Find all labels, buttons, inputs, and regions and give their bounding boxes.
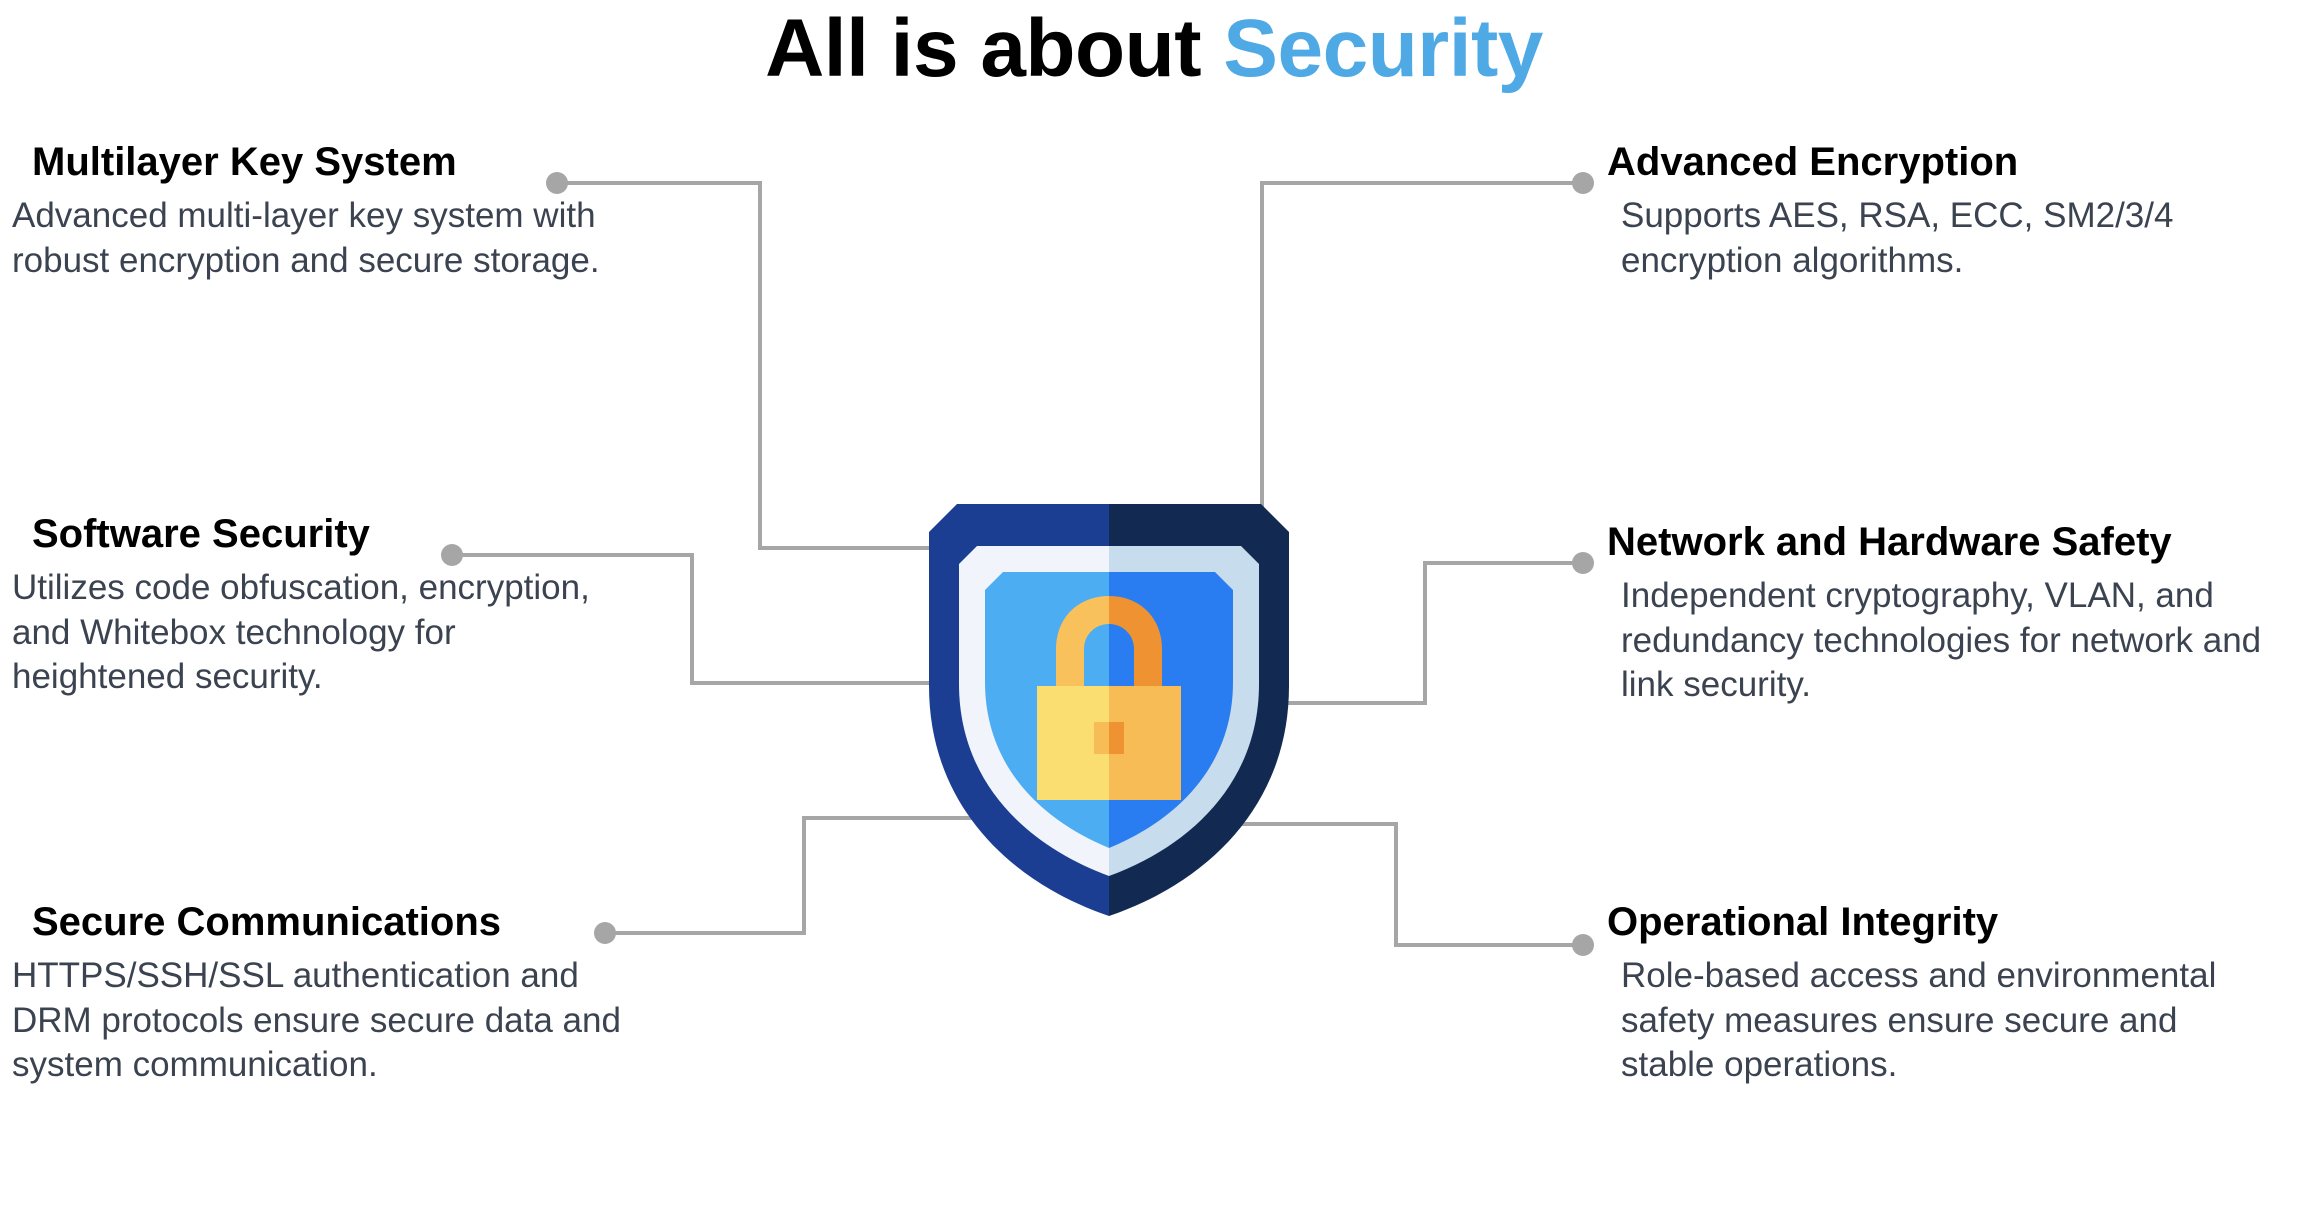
feature-heading: Software Security [32,512,630,557]
connector-dot-advanced-encryption [1572,172,1594,194]
feature-heading: Operational Integrity [1607,900,2267,945]
feature-software-security: Software Security Utilizes code obfuscat… [10,512,630,700]
page-title-accent: Security [1223,3,1543,94]
feature-body: HTTPS/SSH/SSL authentication and DRM pro… [12,954,660,1088]
connector-advanced-encryption [1262,183,1583,570]
connector-dot-operational-integrity [1572,934,1594,956]
padlock-keyhole-icon [1094,722,1124,754]
feature-body: Independent cryptography, VLAN, and redu… [1621,574,2307,708]
feature-body: Utilizes code obfuscation, encryption, a… [12,566,630,700]
feature-secure-communications: Secure Communications HTTPS/SSH/SSL auth… [10,900,660,1088]
feature-heading: Network and Hardware Safety [1607,520,2307,565]
feature-heading: Multilayer Key System [32,140,630,185]
feature-multilayer-key-system: Multilayer Key System Advanced multi-lay… [10,140,630,283]
page-title: All is about Security [0,6,2308,92]
page-title-plain: All is about [765,3,1223,94]
feature-network-and-hardware-safety: Network and Hardware Safety Independent … [1607,520,2307,708]
security-overview-diagram: All is about Security [0,0,2308,1222]
feature-body: Role-based access and environmental safe… [1621,954,2267,1088]
feature-heading: Advanced Encryption [1607,140,2247,185]
shield-lock-icon [929,504,1289,916]
feature-body: Supports AES, RSA, ECC, SM2/3/4 encrypti… [1621,194,2247,284]
feature-advanced-encryption: Advanced Encryption Supports AES, RSA, E… [1607,140,2247,283]
feature-operational-integrity: Operational Integrity Role-based access … [1607,900,2267,1088]
feature-heading: Secure Communications [32,900,660,945]
feature-body: Advanced multi-layer key system with rob… [12,194,630,284]
connector-dot-network-and-hardware-safety [1572,552,1594,574]
connector-network-and-hardware-safety [1262,563,1583,703]
